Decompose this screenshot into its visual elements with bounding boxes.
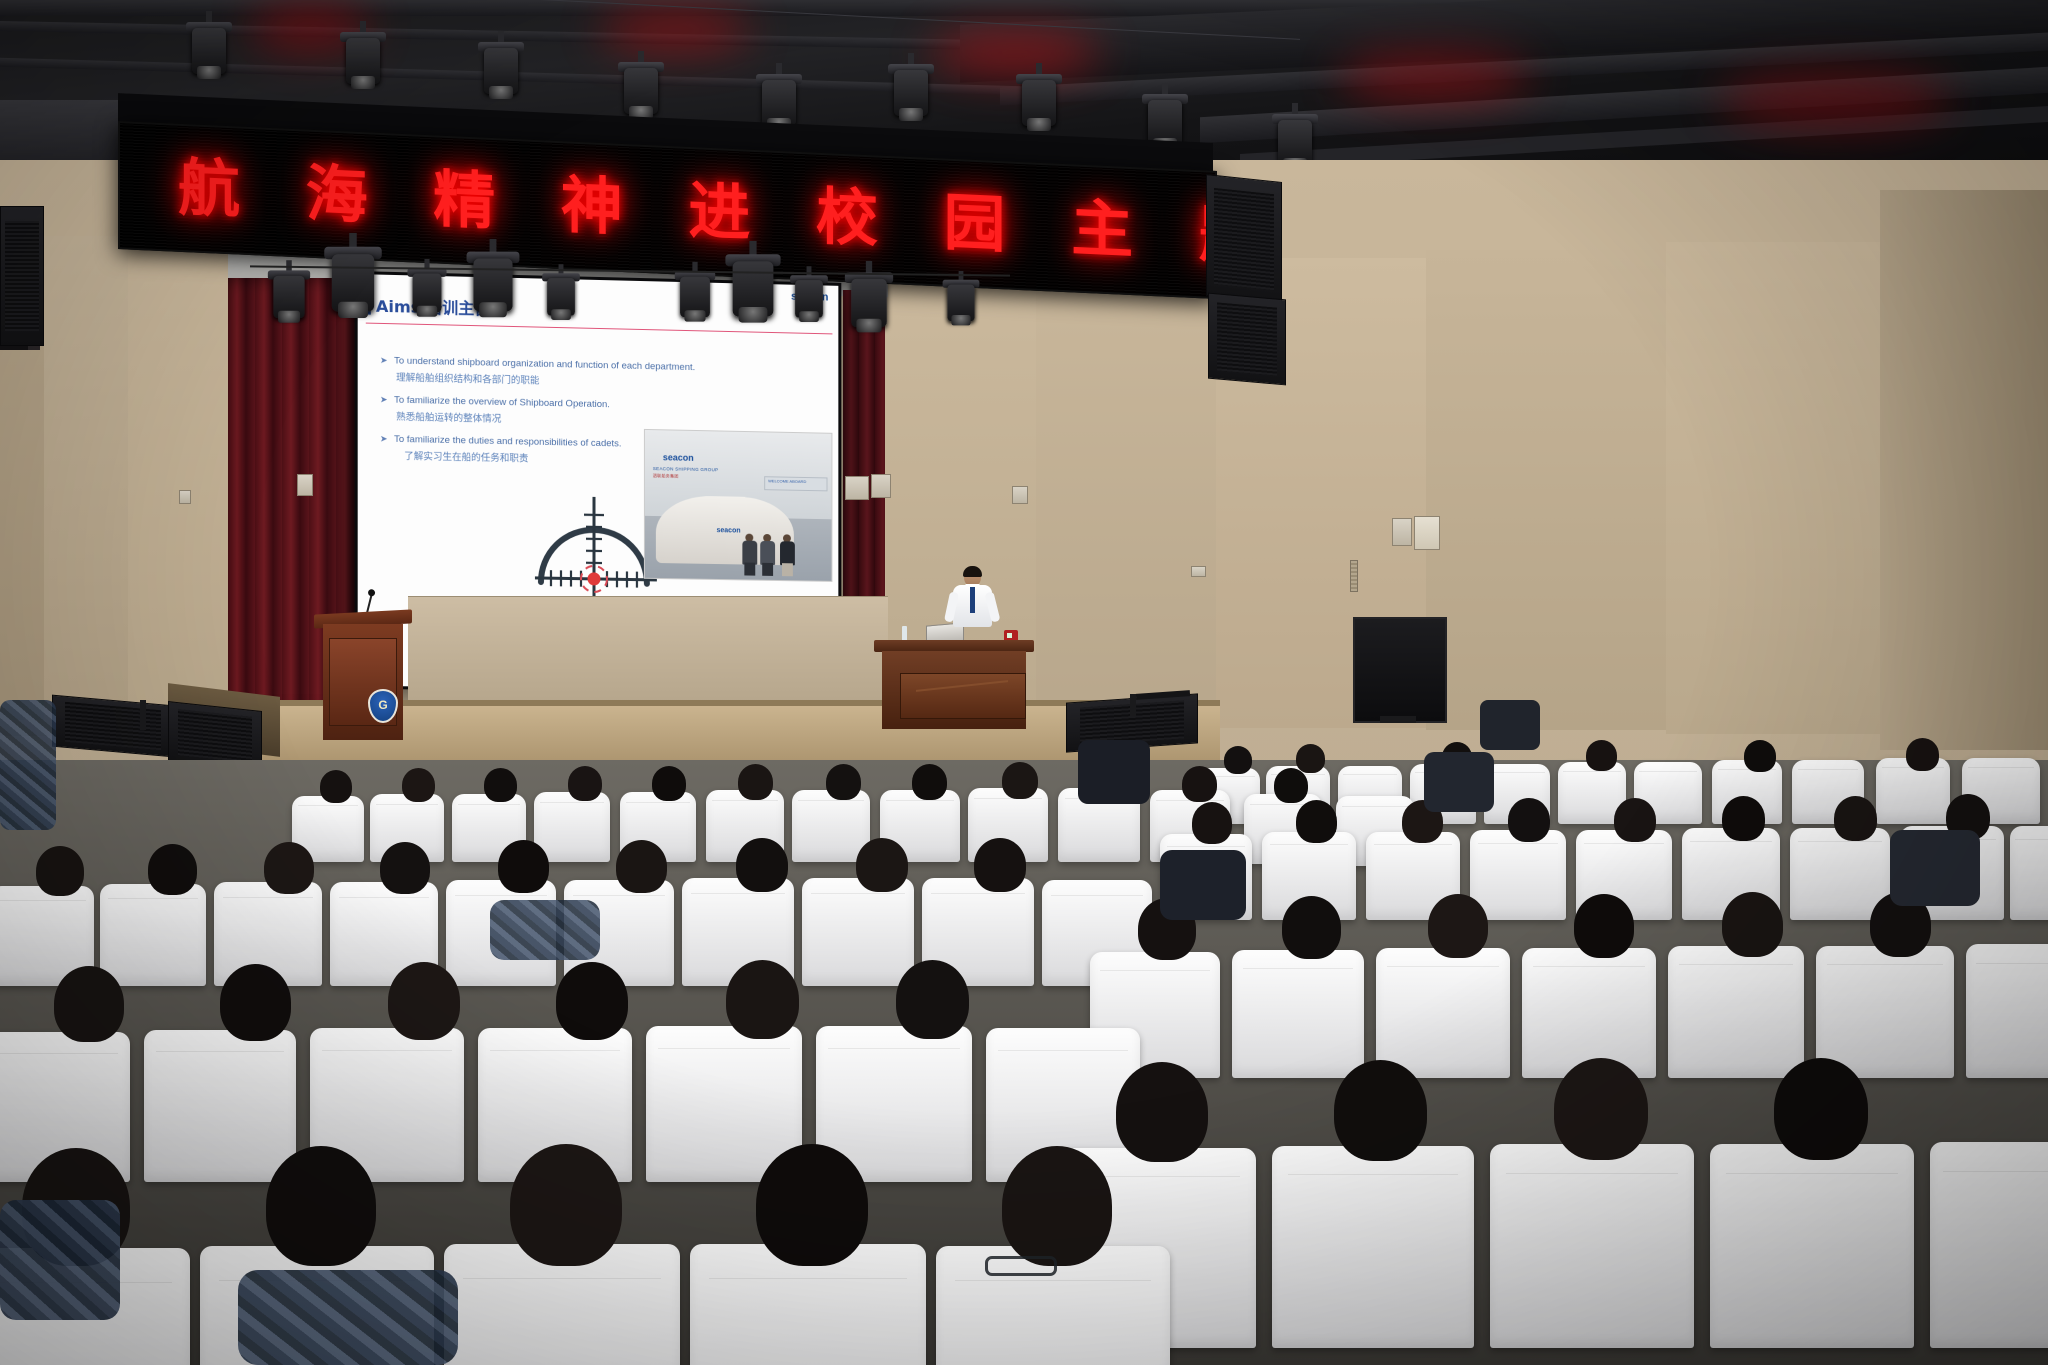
bullet-arrow-icon: ➤ (380, 392, 394, 407)
wall-panel-box (297, 474, 313, 496)
audience-head (1002, 1146, 1112, 1266)
audience-head (388, 962, 460, 1040)
audience-head (510, 1144, 622, 1266)
photo-welcome-banner: WELCOME ABOARD (764, 476, 827, 491)
stage-moving-light (845, 270, 893, 335)
stage-moving-light (407, 267, 446, 320)
school-emblem-letter: G (370, 698, 396, 712)
audience-head (266, 1146, 376, 1266)
side-wall (1880, 190, 2048, 750)
bullet-arrow-icon: ➤ (380, 432, 394, 447)
stage-light-glow (930, 30, 1100, 76)
audience-shoulder (1890, 830, 1980, 906)
ceiling-spotlight (478, 40, 524, 102)
presenter-tie (970, 587, 975, 613)
stage-moving-light (675, 270, 715, 325)
wall-panel (1426, 250, 1667, 730)
speaker-pole (1130, 694, 1136, 716)
audience-uniform-shoulder (490, 900, 600, 960)
auditorium-photo: 航 海 精 神 进 校 园 主 题 活 动 Aims 培训主旨 seacon ➤… (0, 0, 2048, 1365)
audience-shoulder (1078, 740, 1150, 804)
stage-light-glow (600, 10, 750, 50)
audience-shoulder (1480, 700, 1540, 750)
presenter-person (950, 568, 994, 642)
podium-front-panel: G (329, 638, 397, 726)
stage-moving-light (268, 268, 310, 325)
photo-desk-logo: seacon (717, 527, 741, 534)
presenter-table (874, 640, 1034, 730)
photo-person (780, 534, 795, 576)
monitor-stand (1380, 716, 1416, 723)
audience-shoulder (1160, 850, 1246, 920)
wall-panel-box (1392, 518, 1412, 546)
wall-speaker-small (1414, 516, 1440, 550)
wall-monitor[interactable] (1353, 617, 1447, 723)
audience-head (220, 964, 291, 1041)
lectern-podium: G (314, 612, 412, 740)
wall-panel-box (1012, 486, 1028, 504)
stage-moving-light (324, 244, 382, 322)
audience-head (726, 960, 799, 1039)
table-body (882, 651, 1026, 729)
stage-moving-light (467, 249, 520, 320)
photo-seacon-logo: seacon (663, 452, 694, 463)
wall-speaker (0, 206, 44, 346)
wall-panel (1036, 262, 1217, 722)
presenter-hair (963, 566, 982, 577)
stage-light-glow (1720, 70, 1950, 130)
photo-person (742, 534, 757, 576)
audience-head (896, 960, 969, 1039)
ceiling-spotlight (1016, 72, 1062, 134)
slide-photo: seacon SEACON SHIPPING GROUP 泗联船务集团 WELC… (644, 429, 833, 582)
stage-moving-light (542, 272, 580, 323)
photo-seacon-logo-sub-zh: 泗联船务集团 (653, 473, 679, 479)
ceiling-spotlight (186, 20, 232, 82)
photo-welcome-banner-text: WELCOME ABOARD (768, 478, 806, 484)
audience-head (556, 962, 628, 1040)
wall-outlet (1191, 566, 1206, 577)
wall-panel-box (179, 490, 191, 504)
ceiling-spotlight (340, 30, 386, 92)
audience-uniform-shoulder (0, 1200, 120, 1320)
audience-head (756, 1144, 868, 1266)
wall-speaker (1208, 293, 1286, 386)
photo-person (760, 534, 775, 576)
bullet-arrow-icon: ➤ (380, 353, 394, 368)
ceiling-spotlight (618, 60, 664, 122)
stage-wall-skirt (408, 596, 888, 703)
wall-speaker (1206, 174, 1282, 304)
school-emblem: G (368, 689, 398, 723)
audience-uniform-shoulder (238, 1270, 458, 1365)
eyeglasses (985, 1256, 1057, 1276)
audience-uniform-shoulder (0, 700, 56, 830)
wall-panel-box (871, 474, 891, 498)
bullet-text-en: To familiarize the overview of Shipboard… (394, 393, 610, 413)
audience-shoulder (1424, 752, 1494, 812)
stage-moving-light (725, 252, 780, 326)
speaker-pole (140, 700, 146, 730)
bullet-text-en: To familiarize the duties and responsibi… (394, 432, 621, 452)
stage-moving-light (943, 278, 980, 328)
wall-panel-box (845, 476, 869, 500)
stage-light-glow (1340, 52, 1530, 102)
stage-moving-light (790, 274, 828, 325)
ceiling-spotlight (888, 62, 934, 124)
audience-head (54, 966, 124, 1042)
crosshair-target-icon (529, 474, 659, 606)
air-vent (1350, 560, 1358, 592)
